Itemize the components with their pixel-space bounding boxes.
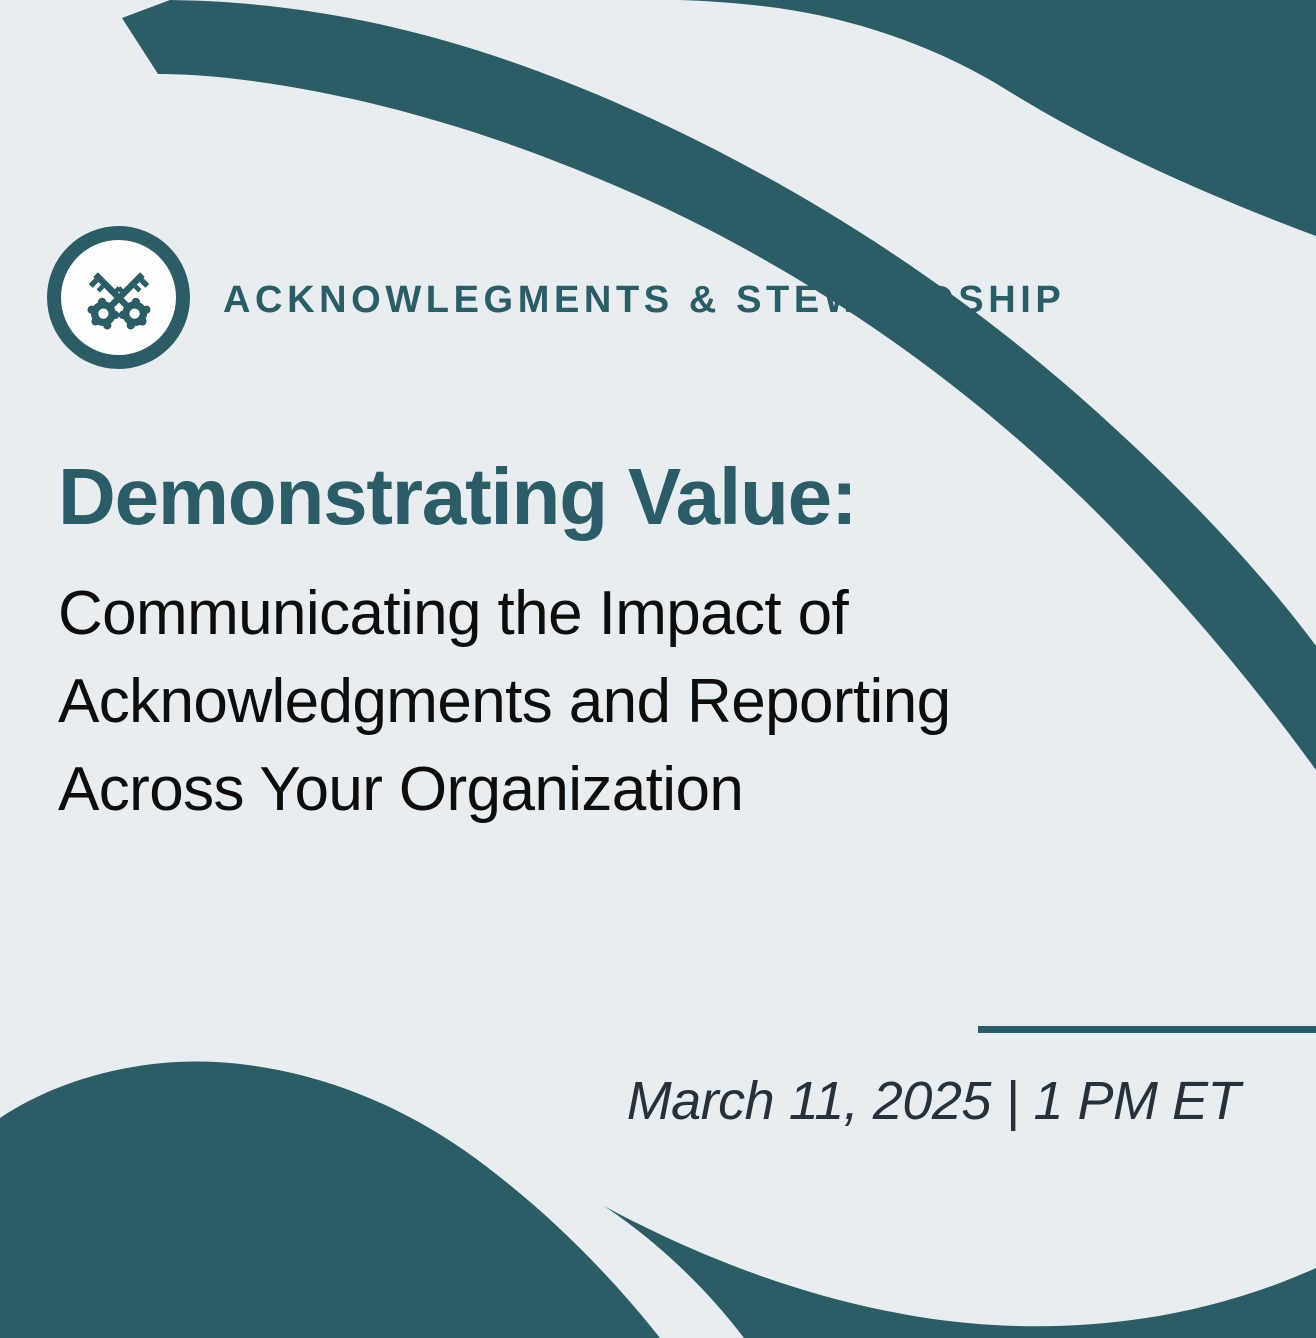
footer-divider bbox=[978, 1026, 1316, 1033]
webinar-promo-poster: ACKNOWLEGMENTS & STEWARDSHIP Demonstrati… bbox=[0, 0, 1316, 1338]
page-subtitle: Communicating the Impact of Acknowledgme… bbox=[58, 570, 1068, 834]
bottom-left-teal-wave bbox=[0, 1061, 660, 1338]
title-block: Demonstrating Value: Communicating the I… bbox=[58, 452, 1118, 834]
event-datetime: March 11, 2025 | 1 PM ET bbox=[627, 1074, 1240, 1128]
bottom-right-teal-wave bbox=[604, 1206, 1316, 1338]
program-eyebrow-label: ACKNOWLEGMENTS & STEWARDSHIP bbox=[223, 277, 1065, 319]
page-title: Demonstrating Value: bbox=[58, 452, 1118, 542]
brand-logo bbox=[47, 226, 190, 369]
top-right-teal-shape bbox=[575, 0, 1316, 236]
crossed-keys-icon bbox=[73, 252, 165, 344]
brand-header: ACKNOWLEGMENTS & STEWARDSHIP bbox=[47, 226, 1065, 369]
